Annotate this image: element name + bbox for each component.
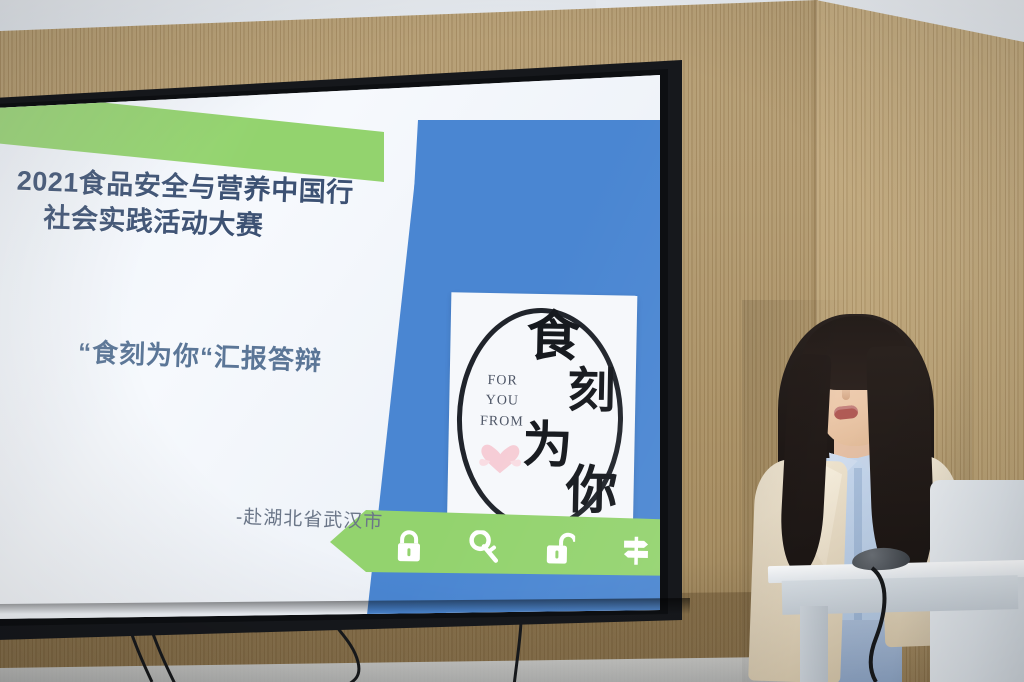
key-icon	[468, 530, 501, 564]
open-padlock-icon	[545, 531, 576, 565]
logo-char-1: 食	[526, 310, 581, 365]
signpost-icon	[620, 533, 653, 567]
winged-heart-icon	[478, 441, 523, 476]
podium-leg	[800, 606, 828, 682]
presentation-slide: FOR YOU FROM 食 刻 为 你	[0, 74, 670, 619]
logo-char-4: 你	[565, 464, 618, 517]
presentation-room-photo: FOR YOU FROM 食 刻 为 你	[0, 0, 1024, 682]
logo-char-2: 刻	[567, 366, 616, 415]
microphone-cable	[856, 560, 976, 682]
project-logo-card: FOR YOU FROM 食 刻 为 你	[447, 292, 638, 544]
slide-title: 2021食品安全与营养中国行 社会实践活动大赛	[15, 163, 417, 250]
logo-chinese-characters: 食 刻 为 你	[519, 304, 635, 532]
